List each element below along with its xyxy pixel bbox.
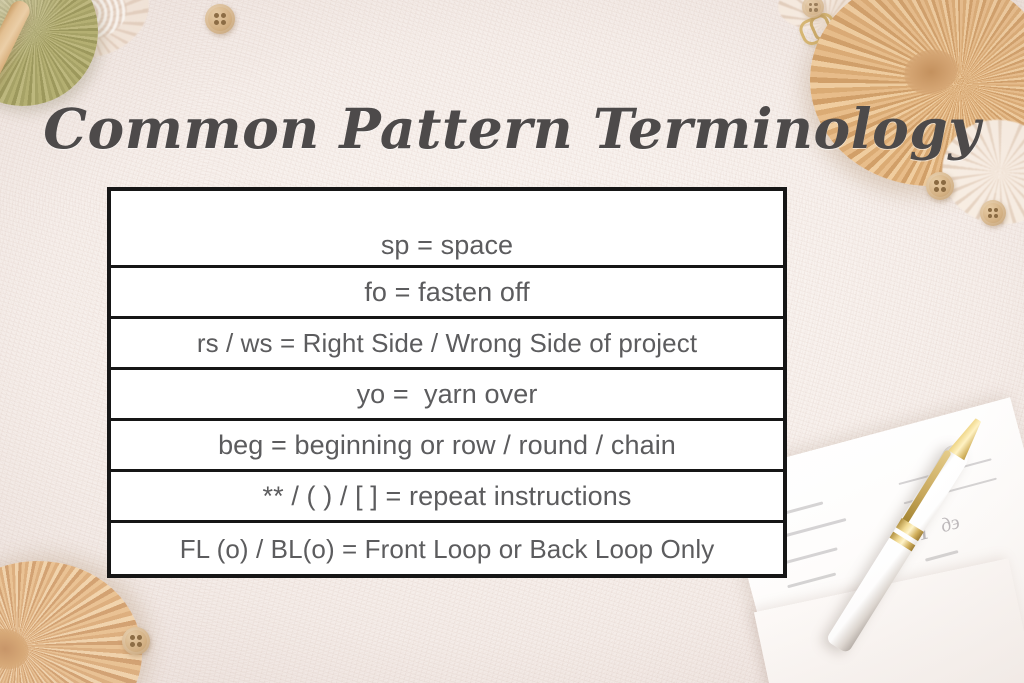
table-row: sp = space — [111, 191, 783, 268]
table-row: ** / ( ) / [ ] = repeat instructions — [111, 472, 783, 523]
table-row: fo = fasten off — [111, 268, 783, 319]
table-row: rs / ws = Right Side / Wrong Side of pro… — [111, 319, 783, 370]
table-row: FL (o) / BL(o) = Front Loop or Back Loop… — [111, 523, 783, 574]
table-row-text: rs / ws = Right Side / Wrong Side of pro… — [197, 330, 697, 356]
page-title: Common Pattern Terminology — [0, 96, 1024, 161]
table-row-text: fo = fasten off — [364, 279, 529, 306]
table-row-text: sp = space — [381, 232, 513, 259]
terminology-table: sp = space fo = fasten off rs / ws = Rig… — [107, 187, 787, 578]
table-row-text: beg = beginning or row / round / chain — [218, 432, 676, 459]
poster-canvas: Ӵ дэ \/ кэ f кэ 8 дэ Common Pattern Term… — [0, 0, 1024, 683]
table-row-text: FL (o) / BL(o) = Front Loop or Back Loop… — [180, 536, 715, 562]
table-row: yo = yarn over — [111, 370, 783, 421]
table-row: beg = beginning or row / round / chain — [111, 421, 783, 472]
table-row-text: ** / ( ) / [ ] = repeat instructions — [263, 483, 632, 510]
table-row-text: yo = yarn over — [357, 381, 538, 408]
